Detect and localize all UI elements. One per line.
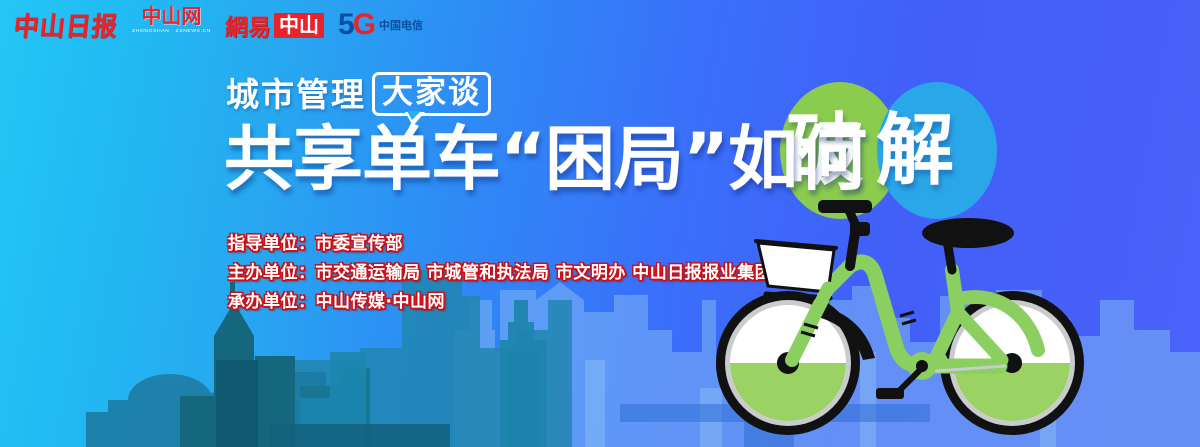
headline-main-text: 共享单车“困局”如何 [224, 124, 866, 194]
eyebrow-row: 城市管理 大家谈 [226, 72, 491, 116]
logo-netease-zhongshan[interactable]: 網易 中山 [225, 6, 324, 44]
headline-main: 共享单车“困局”如何 [224, 114, 866, 204]
eyebrow-prefix: 城市管理 [226, 78, 366, 111]
organizer-line-hosts: 主办单位：市交通运输局 市城管和执法局 市文明办 中山日报报业集团 [228, 265, 772, 282]
organizer-line-guidance: 指导单位：市委宣传部 [228, 236, 772, 253]
logo-5g-letter: G [353, 8, 374, 41]
logo-zhongshan-daily[interactable]: 中山日报 [14, 6, 118, 44]
logo-zhongshan-daily-text: 中山日报 [12, 6, 120, 44]
logo-china-telecom-text: 中国电信 [379, 17, 423, 33]
logo-zhongshan-net-subtext: ZHONGSHAN · ZSNEWS.CN [132, 29, 211, 34]
speech-bubble-label: 大家谈 [382, 78, 481, 109]
logo-zhongshan-net-text: 中山网 [142, 6, 202, 26]
shared-bicycle [700, 200, 1120, 447]
logo-china-telecom-5g[interactable]: 5G 中国电信 [338, 6, 423, 44]
organizer-credits: 指导单位：市委宣传部 主办单位：市交通运输局 市城管和执法局 市文明办 中山日报… [228, 236, 772, 323]
logo-netease-city-box: 中山 [274, 13, 324, 38]
logo-5g-mark: 5G [338, 10, 374, 40]
organizer-line-undertakers: 承办单位：中山传媒·中山网 [228, 294, 772, 311]
speech-bubble: 大家谈 [372, 72, 491, 116]
logo-netease-word: 網易 [225, 8, 271, 42]
logo-5g-number: 5 [338, 8, 353, 41]
media-logo-strip: 中山日报 中山网 ZHONGSHAN · ZSNEWS.CN 網易 中山 5G … [14, 6, 423, 44]
bicycle-saddle [922, 218, 1014, 270]
campaign-banner: 中山日报 中山网 ZHONGSHAN · ZSNEWS.CN 網易 中山 5G … [0, 0, 1200, 447]
logo-zhongshan-net[interactable]: 中山网 ZHONGSHAN · ZSNEWS.CN [132, 6, 211, 44]
